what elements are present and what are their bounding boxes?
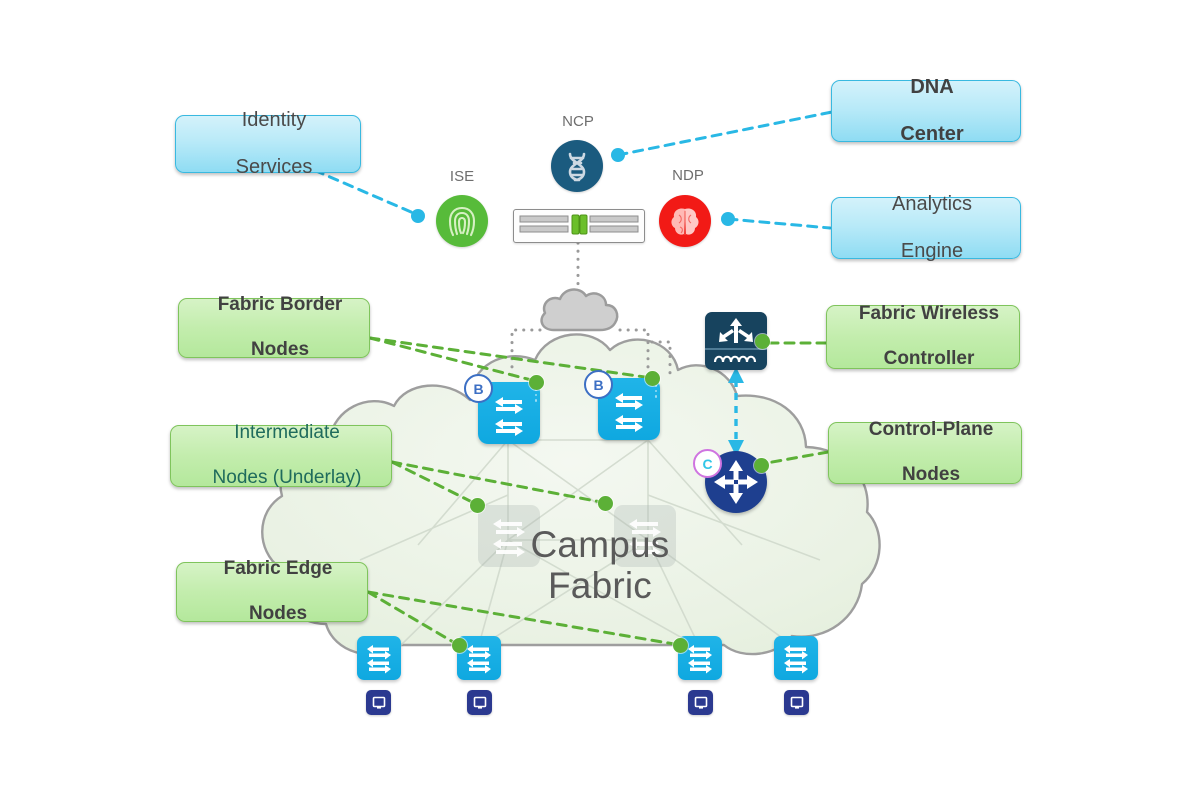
leader-dna-center [618, 112, 832, 155]
ncp-label: NCP [551, 113, 605, 130]
intermediate-line2: Nodes (Underlay) [177, 467, 397, 489]
switch-icon [357, 636, 401, 680]
border-badge-right: B [584, 370, 613, 399]
fabric-edge-line1: Fabric Edge [183, 558, 373, 580]
fabric-border-line2: Nodes [185, 339, 375, 361]
endpoint-device-1[interactable] [366, 690, 391, 715]
cloud-icon [536, 282, 624, 339]
fingerprint-icon [436, 195, 488, 247]
brain-icon [659, 195, 711, 247]
fabric-edge-node-2[interactable] [457, 636, 501, 680]
endpoint-device-icon [688, 690, 713, 715]
ncp-node[interactable] [551, 140, 603, 192]
switch-port-leds [655, 384, 658, 401]
connector-dot [754, 458, 769, 473]
endpoint-device-2[interactable] [467, 690, 492, 715]
ndp-node[interactable] [659, 195, 711, 247]
callout-analytics-engine[interactable]: Analytics Engine [831, 197, 1021, 259]
callout-fabric-edge-nodes[interactable]: Fabric Edge Nodes [176, 562, 368, 622]
connector-dot [598, 496, 613, 511]
control-plane-line2: Nodes [835, 464, 1027, 486]
endpoint-device-3[interactable] [688, 690, 713, 715]
fabric-wireless-controller-node[interactable] [705, 312, 767, 370]
identity-services-line1: Identity [182, 109, 366, 133]
identity-services-leader-dot [411, 209, 425, 223]
analytics-engine-line1: Analytics [838, 193, 1026, 217]
fabric-edge-node-1[interactable] [357, 636, 401, 680]
wlc-line2: Controller [833, 348, 1025, 370]
leader-analytics-engine [728, 219, 830, 228]
connector-dot [452, 638, 467, 653]
connector-dot [470, 498, 485, 513]
ndp-label: NDP [661, 167, 715, 184]
dna-helix-icon [551, 140, 603, 192]
control-plane-line1: Control-Plane [835, 419, 1027, 441]
connector-dot [673, 638, 688, 653]
control-plane-badge: C [693, 449, 722, 478]
fabric-edge-line2: Nodes [183, 603, 373, 625]
connector-dot [529, 375, 544, 390]
border-badge-left: B [464, 374, 493, 403]
dna-center-leader-dot [611, 148, 625, 162]
fabric-edge-node-3[interactable] [678, 636, 722, 680]
fabric-border-line1: Fabric Border [185, 294, 375, 316]
dna-center-line2: Center [838, 123, 1026, 147]
ise-node[interactable] [436, 195, 488, 247]
server-rack-icon[interactable] [513, 209, 645, 243]
switch-icon [774, 636, 818, 680]
callout-intermediate-nodes[interactable]: Intermediate Nodes (Underlay) [170, 425, 392, 487]
callout-identity-services[interactable]: Identity Services [175, 115, 361, 173]
endpoint-device-4[interactable] [784, 690, 809, 715]
connector-dot [755, 334, 770, 349]
fabric-edge-node-4[interactable] [774, 636, 818, 680]
connector-dot [645, 371, 660, 386]
endpoint-device-icon [784, 690, 809, 715]
callout-fabric-wireless-controller[interactable]: Fabric Wireless Controller [826, 305, 1020, 369]
diagram-canvas: Identity Services DNA Center Analytics E… [0, 0, 1200, 800]
intermediate-line1: Intermediate [177, 422, 397, 444]
analytics-engine-line2: Engine [838, 240, 1026, 264]
fabric-border-node-right[interactable]: B [598, 378, 660, 440]
ise-label: ISE [437, 168, 487, 185]
switch-port-leds [535, 388, 538, 405]
fabric-border-node-left[interactable]: B [478, 382, 540, 444]
identity-services-line2: Services [182, 156, 366, 180]
callout-dna-center[interactable]: DNA Center [831, 80, 1021, 142]
endpoint-device-icon [467, 690, 492, 715]
analytics-engine-leader-dot [721, 212, 735, 226]
callout-control-plane-nodes[interactable]: Control-Plane Nodes [828, 422, 1022, 484]
endpoint-device-icon [366, 690, 391, 715]
callout-fabric-border-nodes[interactable]: Fabric Border Nodes [178, 298, 370, 358]
wlc-line1: Fabric Wireless [833, 303, 1025, 325]
control-plane-node[interactable]: C [705, 451, 767, 513]
dna-center-line1: DNA [838, 76, 1026, 100]
